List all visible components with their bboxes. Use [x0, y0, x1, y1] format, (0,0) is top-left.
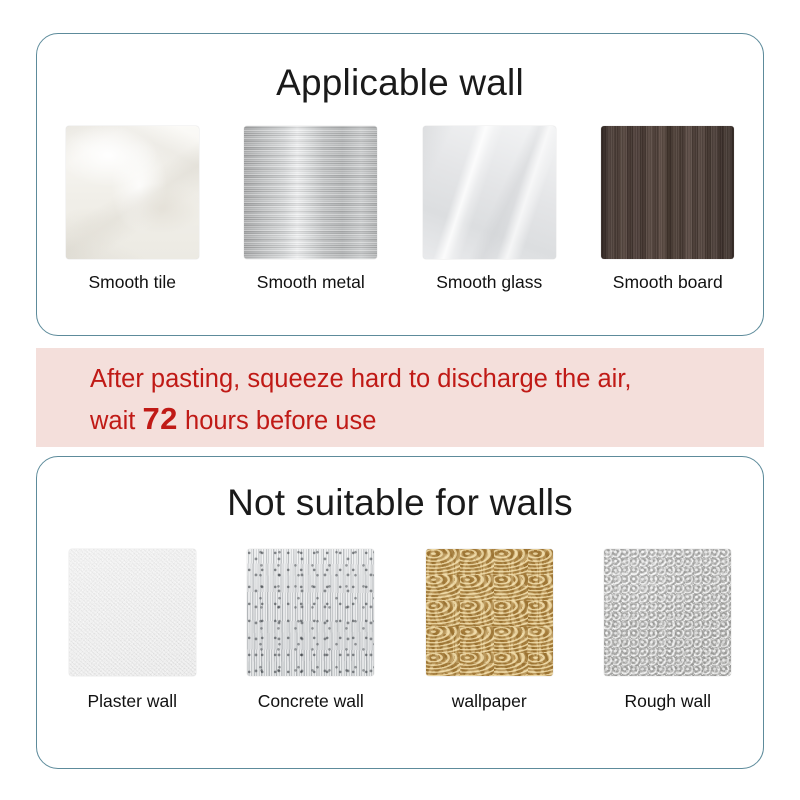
not-suitable-swatch-item-wallpaper: wallpaper: [416, 549, 563, 712]
warning-line-2: wait 72 hours before use: [90, 402, 764, 438]
smooth-tile-label: Smooth tile: [88, 272, 176, 293]
not-suitable-swatch-item-rough-wall: Rough wall: [595, 549, 742, 712]
rough-wall-texture-swatch: [604, 549, 731, 676]
applicable-wall-title: Applicable wall: [37, 34, 763, 104]
applicable-swatch-item-smooth-metal: Smooth metal: [238, 126, 385, 293]
warning-banner: After pasting, squeeze hard to discharge…: [36, 348, 764, 447]
applicable-wall-swatch-row: Smooth tile Smooth metal Smooth glass Sm…: [37, 126, 763, 293]
warning-hours-value: 72: [142, 401, 177, 436]
wallpaper-label: wallpaper: [452, 691, 527, 712]
not-suitable-wall-panel: Not suitable for walls Plaster wall Conc…: [36, 456, 764, 769]
smooth-glass-label: Smooth glass: [436, 272, 542, 293]
plaster-wall-label: Plaster wall: [88, 691, 177, 712]
warning-wait-prefix: wait: [90, 407, 142, 435]
concrete-wall-texture-swatch: [247, 549, 374, 676]
rough-wall-label: Rough wall: [624, 691, 711, 712]
warning-hours-suffix: hours before use: [178, 407, 376, 435]
concrete-wall-label: Concrete wall: [258, 691, 364, 712]
smooth-metal-label: Smooth metal: [257, 272, 365, 293]
applicable-swatch-item-smooth-tile: Smooth tile: [59, 126, 206, 293]
smooth-board-label: Smooth board: [613, 272, 723, 293]
warning-line-1: After pasting, squeeze hard to discharge…: [90, 362, 764, 396]
not-suitable-swatch-item-plaster-wall: Plaster wall: [59, 549, 206, 712]
smooth-tile-texture-swatch: [66, 126, 199, 259]
smooth-board-texture-swatch: [601, 126, 734, 259]
applicable-swatch-item-smooth-board: Smooth board: [595, 126, 742, 293]
not-suitable-wall-swatch-row: Plaster wall Concrete wall wallpaper Rou…: [37, 549, 763, 712]
smooth-glass-texture-swatch: [423, 126, 556, 259]
applicable-swatch-item-smooth-glass: Smooth glass: [416, 126, 563, 293]
wallpaper-texture-swatch: [426, 549, 553, 676]
plaster-wall-texture-swatch: [69, 549, 196, 676]
wall-compatibility-infographic: Applicable wall Smooth tile Smooth metal…: [0, 0, 800, 800]
not-suitable-wall-title: Not suitable for walls: [37, 457, 763, 524]
smooth-metal-texture-swatch: [244, 126, 377, 259]
applicable-wall-panel: Applicable wall Smooth tile Smooth metal…: [36, 33, 764, 336]
not-suitable-swatch-item-concrete-wall: Concrete wall: [238, 549, 385, 712]
